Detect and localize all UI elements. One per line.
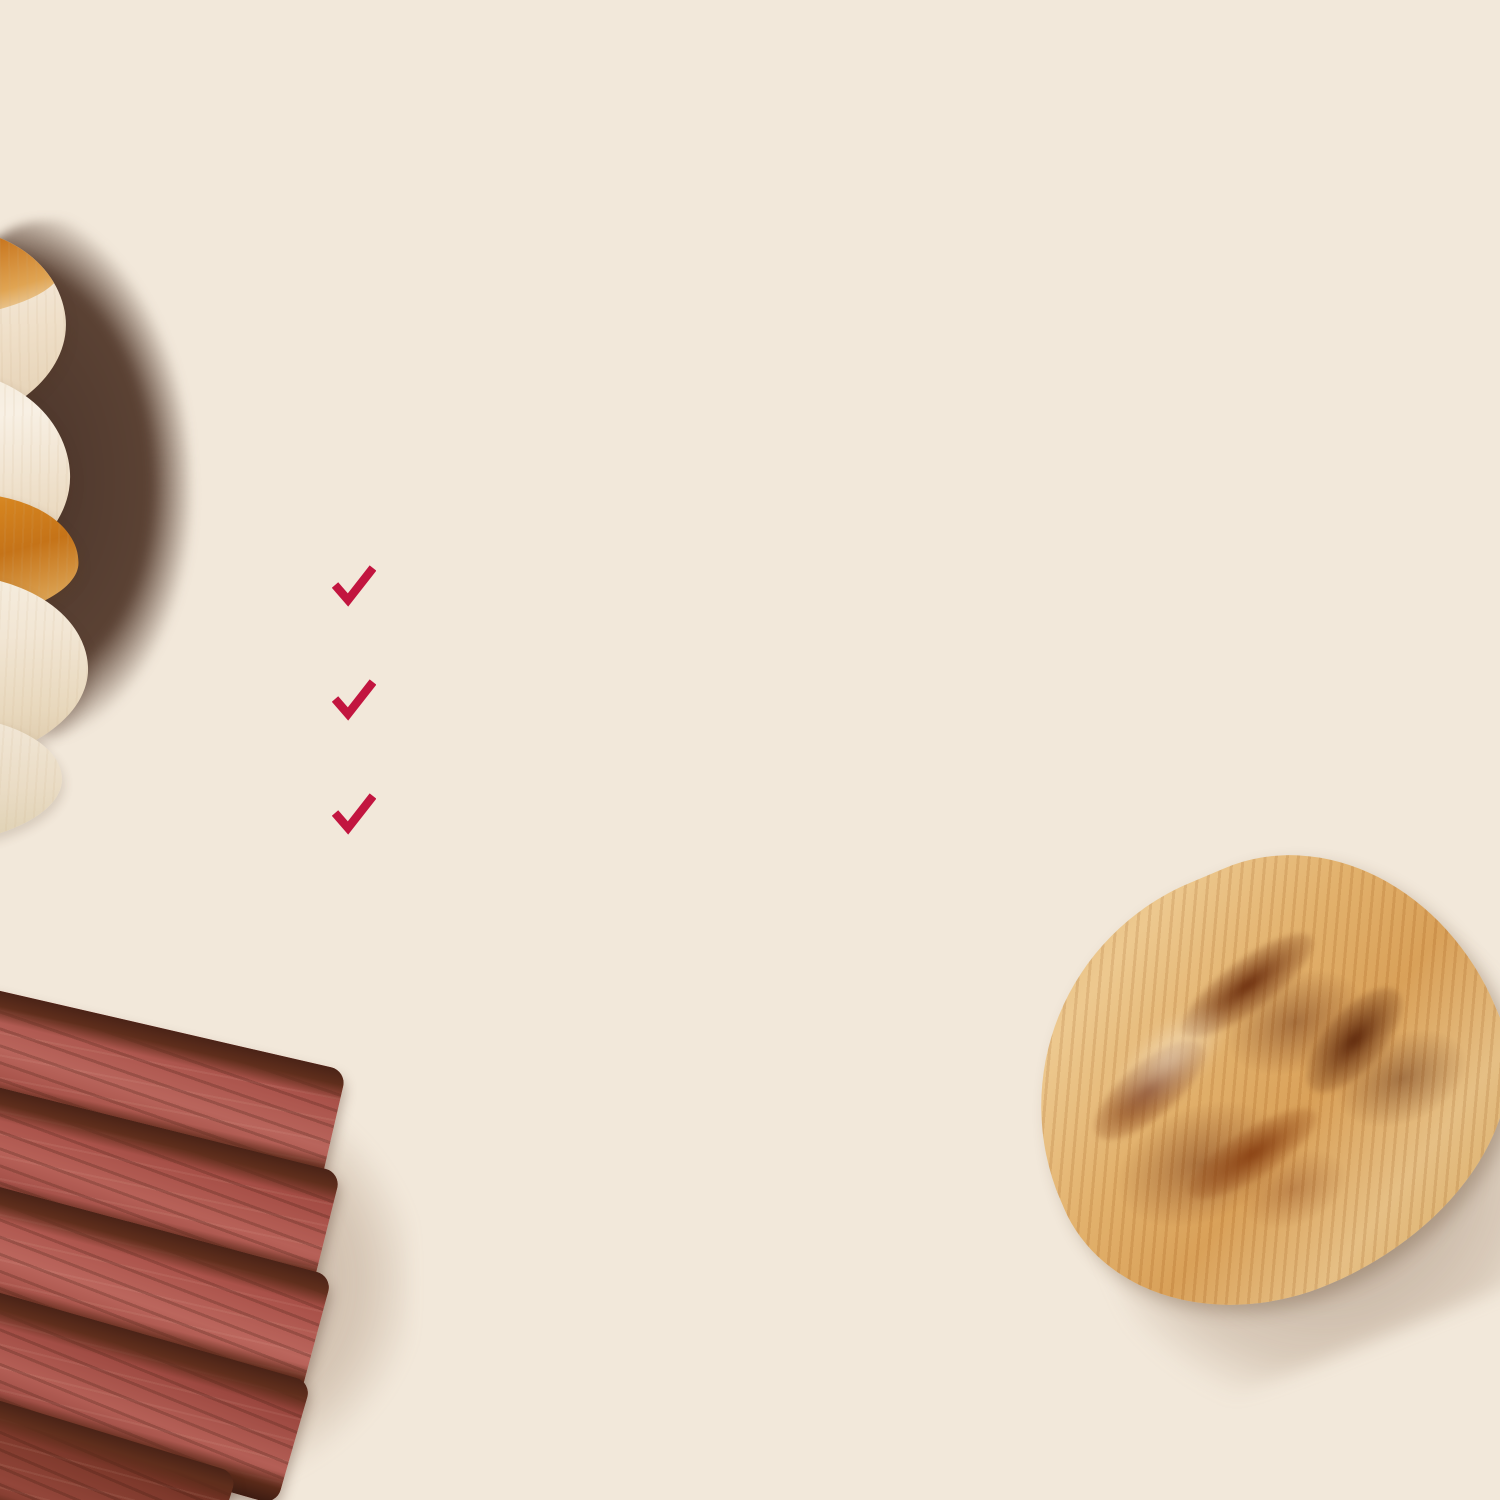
pork-grain bbox=[0, 711, 64, 851]
list-item bbox=[332, 672, 1212, 724]
benefits-list bbox=[332, 558, 1212, 838]
check-icon bbox=[332, 790, 376, 838]
seared-chicken-breast-photo bbox=[1012, 856, 1500, 1404]
check-icon bbox=[332, 562, 376, 610]
pork-slice bbox=[0, 711, 64, 851]
sliced-pork-roast-photo bbox=[0, 196, 212, 752]
sliced-steak-photo bbox=[0, 996, 470, 1500]
check-icon bbox=[332, 676, 376, 724]
promo-banner bbox=[0, 0, 1500, 1500]
list-item bbox=[332, 786, 1212, 838]
list-item bbox=[332, 558, 1212, 610]
